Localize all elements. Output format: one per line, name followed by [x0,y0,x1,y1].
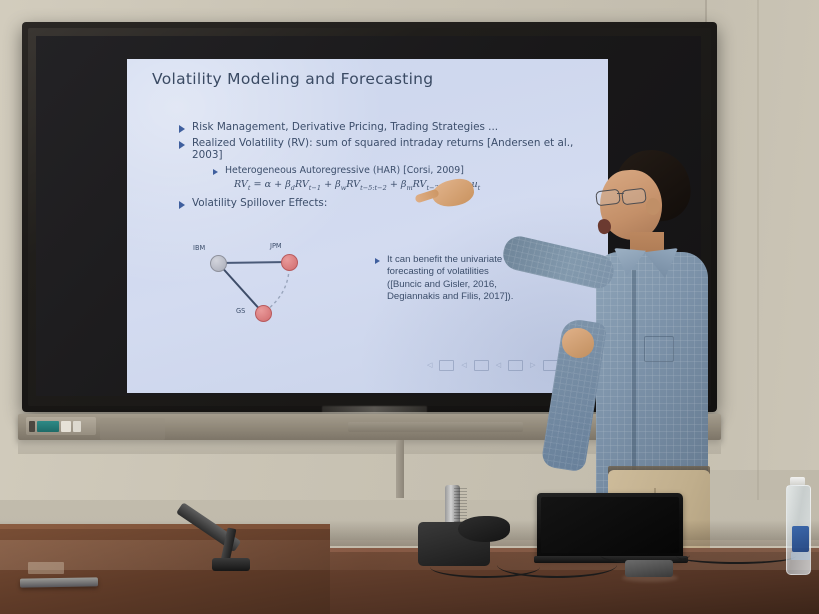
control-label-sticker [37,421,59,432]
glasses-lens [595,189,621,207]
nav-back-icon[interactable] [508,360,523,371]
wall-seam [757,0,759,500]
presenter [556,140,731,515]
presentation-slide[interactable]: Volatility Modeling and Forecasting Risk… [127,59,608,393]
network-node-jpm [281,254,298,271]
microphone-left[interactable] [176,500,260,574]
network-node-gs [255,305,272,322]
network-label-jpm: JPM [270,242,282,250]
bottle-label [792,526,809,552]
bullet-text: Heterogeneous Autoregressive (HAR) [Cors… [225,165,464,177]
cable [676,548,796,564]
glasses-lens [621,188,647,206]
shirt-pocket [644,336,674,362]
bullet-item-realized-volatility: Realized Volatility (RV): sum of squared… [179,137,599,162]
bullet-item-risk-management: Risk Management, Derivative Pricing, Tra… [179,121,599,134]
paper-scrap [28,562,64,574]
display-speaker-box [100,418,165,440]
triangle-bullet-icon [179,125,185,133]
conference-room-scene: Volatility Modeling and Forecasting Risk… [0,0,819,614]
laptop-screen[interactable] [541,497,679,553]
side-note-line: forecasting of volatilities [387,266,513,278]
side-note-line: ([Buncic and Gisler, 2016, [387,279,513,291]
beamer-navigation-bar[interactable]: ◁ ◁ ◁ ▷ ▷ [427,359,577,371]
slide-title: Volatility Modeling and Forecasting [152,70,433,88]
cable-bundle [458,516,510,542]
presenter-glasses [596,189,648,204]
display-stand-leg [396,440,404,498]
power-adapter [625,560,673,577]
presenter-shirt [596,252,708,502]
network-label-gs: GS [236,307,245,315]
shirt-placket [632,270,636,470]
network-label-ibm: IBM [193,244,205,252]
control-sticker [73,421,81,432]
control-sticker [61,421,71,432]
spillover-network-diagram: IBM JPM GS [185,237,315,327]
side-note-line: It can benefit the univariate [387,254,513,266]
display-brand-logo [322,406,427,414]
control-button-icon[interactable] [29,421,35,432]
side-note-line: Degiannakis and Filis, 2017]). [387,291,513,303]
microphone-base [212,558,250,571]
bullet-text: Risk Management, Derivative Pricing, Tra… [192,121,498,134]
bottle-label-lower [791,552,810,560]
cable [497,552,617,578]
nav-arrow-left-icon[interactable]: ◁ [496,361,501,369]
strip-emboss [348,422,523,432]
nav-arrow-left-icon[interactable]: ◁ [461,361,466,369]
shirt-check-pattern [596,252,708,502]
bullet-text: Realized Volatility (RV): sum of squared… [192,137,599,162]
water-bottle[interactable] [784,477,811,573]
triangle-bullet-icon [375,258,380,264]
bullet-item-spillover: Volatility Spillover Effects: [179,197,599,210]
phone-device[interactable] [20,577,98,587]
nav-arrow-right-icon[interactable]: ▷ [530,361,535,369]
table-edge-highlight [0,524,330,529]
presenter-ear [646,198,660,215]
bullet-text: Volatility Spillover Effects: [192,197,327,210]
triangle-bullet-icon [213,169,218,175]
display-control-panel[interactable] [26,417,96,435]
bottle-body [786,485,811,575]
nav-arrow-left-icon[interactable]: ◁ [427,361,432,369]
network-node-ibm [210,255,227,272]
triangle-bullet-icon [179,201,185,209]
nav-first-slide-icon[interactable] [439,360,454,371]
triangle-bullet-icon [179,141,185,149]
slide-bullet-list: Risk Management, Derivative Pricing, Tra… [179,121,599,213]
har-equation: RVt = α + βdRVt−1 + βwRVt−5:t−2 + βmRVt−… [234,179,599,192]
nav-previous-slide-icon[interactable] [474,360,489,371]
presenter-resting-hand [562,328,594,358]
bullet-item-har: Heterogeneous Autoregressive (HAR) [Cors… [213,165,599,177]
